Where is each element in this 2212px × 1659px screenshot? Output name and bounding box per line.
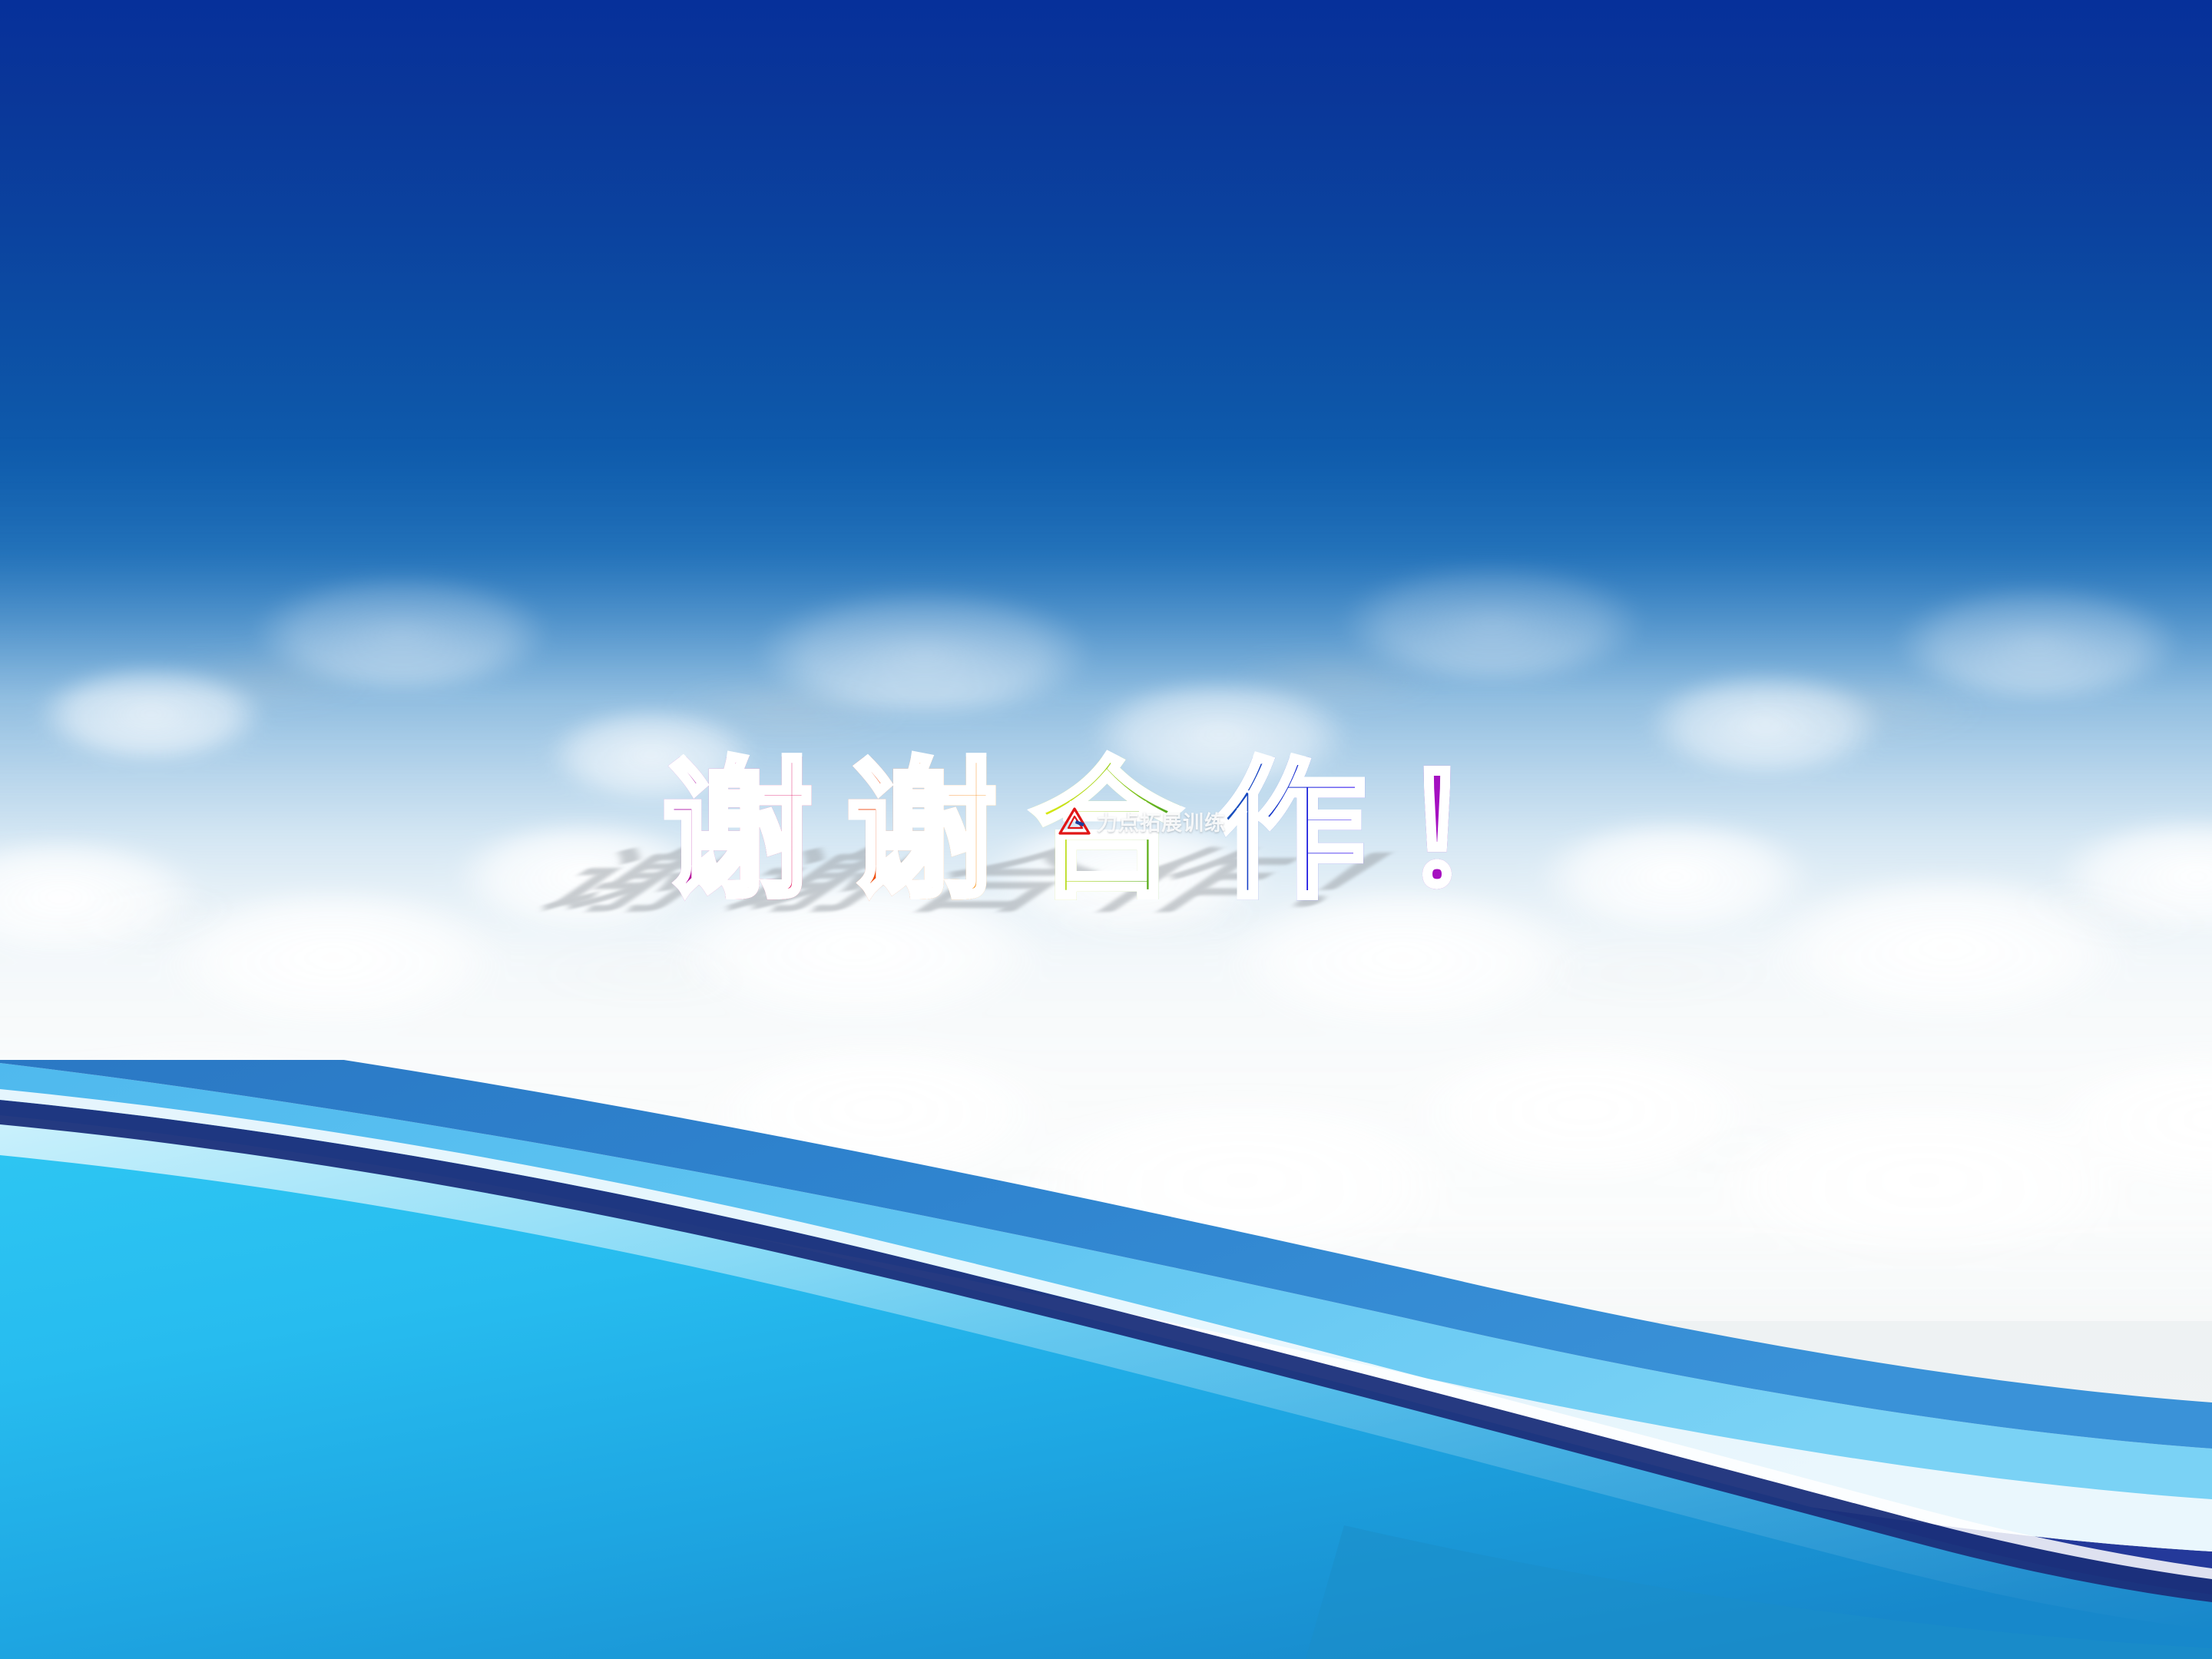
title-char-exclamation: ！ xyxy=(1399,757,1550,907)
ocean-ribbon-artwork xyxy=(0,1060,2212,1659)
title-char-he: 合 xyxy=(1031,757,1181,907)
title-text: 谢 谢 合 作 ！ xyxy=(0,757,2212,933)
title-char-zuo: 作 xyxy=(1215,757,1366,907)
title-char-xie-1: 谢 xyxy=(662,757,813,907)
slide-canvas: 谢 谢 合 作 ！ 谢 谢 合 作 ！ 力点拓展训练 xyxy=(0,0,2212,1659)
title-char-xie-2: 谢 xyxy=(846,757,997,907)
